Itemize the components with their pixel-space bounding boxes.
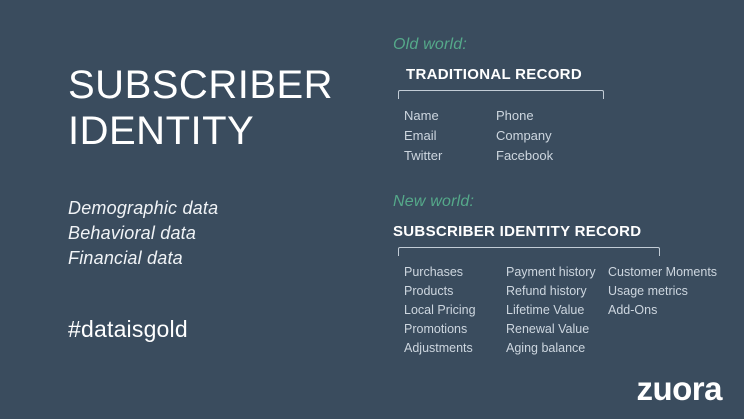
field-item: Promotions [404, 320, 506, 339]
field-item: Lifetime Value [506, 301, 608, 320]
field-item: Twitter [404, 146, 496, 166]
subpoint-list: Demographic data Behavioral data Financi… [68, 196, 368, 271]
new-world-label: New world: [393, 193, 717, 211]
old-world-label: Old world: [393, 36, 604, 54]
old-world-field-grid: Name Email Twitter Phone Company Faceboo… [404, 106, 604, 166]
bracket-decoration-old [398, 90, 604, 99]
field-item: Usage metrics [608, 282, 717, 301]
list-item: Financial data [68, 246, 368, 271]
field-item: Renewal Value [506, 320, 608, 339]
slide-canvas: SUBSCRIBER IDENTITY Demographic data Beh… [0, 0, 744, 419]
old-world-panel: Old world: TRADITIONAL RECORD Name Email… [393, 36, 604, 166]
left-content-block: SUBSCRIBER IDENTITY [68, 62, 368, 154]
field-item: Company [496, 126, 588, 146]
list-item: Demographic data [68, 196, 368, 221]
new-world-field-grid: Purchases Products Local Pricing Promoti… [404, 263, 717, 358]
field-item: Refund history [506, 282, 608, 301]
field-item: Add-Ons [608, 301, 717, 320]
field-column: Customer Moments Usage metrics Add-Ons [608, 263, 717, 358]
field-column: Phone Company Facebook [496, 106, 588, 166]
field-column: Payment history Refund history Lifetime … [506, 263, 608, 358]
field-column: Purchases Products Local Pricing Promoti… [404, 263, 506, 358]
field-item: Email [404, 126, 496, 146]
zuora-logo-text: zuora [636, 370, 722, 407]
field-item: Facebook [496, 146, 588, 166]
page-title: SUBSCRIBER IDENTITY [68, 62, 368, 154]
list-item: Behavioral data [68, 221, 368, 246]
hashtag-label: #dataisgold [68, 316, 188, 343]
field-item: Purchases [404, 263, 506, 282]
field-item: Aging balance [506, 339, 608, 358]
field-item: Phone [496, 106, 588, 126]
field-item: Customer Moments [608, 263, 717, 282]
new-world-panel: New world: SUBSCRIBER IDENTITY RECORD Pu… [393, 193, 717, 358]
traditional-record-title: TRADITIONAL RECORD [406, 66, 604, 83]
field-item: Adjustments [404, 339, 506, 358]
field-item: Products [404, 282, 506, 301]
field-item: Payment history [506, 263, 608, 282]
field-column: Name Email Twitter [404, 106, 496, 166]
zuora-logo: zuora [636, 372, 722, 405]
field-item: Local Pricing [404, 301, 506, 320]
bracket-decoration-new [398, 247, 660, 256]
field-item: Name [404, 106, 496, 126]
subscriber-identity-record-title: SUBSCRIBER IDENTITY RECORD [393, 223, 717, 240]
